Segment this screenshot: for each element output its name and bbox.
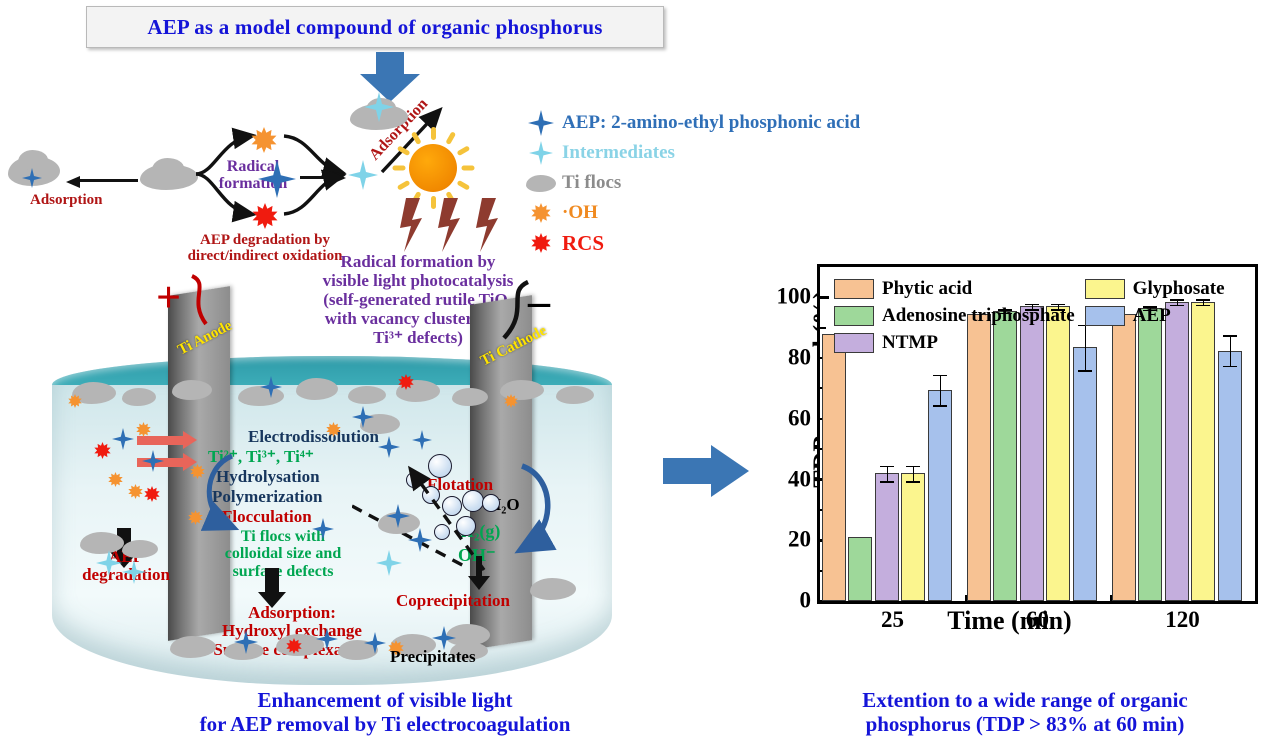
error-cap [906,466,920,468]
chart-legend-item-0: Phytic acid [834,275,1075,302]
x-tick-minor [965,595,967,601]
bar-25-ntmp [875,473,899,601]
bar-120-aep [1218,351,1242,602]
adsorption-left-label: Adsorption [30,192,103,208]
anode-wire-icon [186,274,224,328]
star-icon [520,110,562,136]
error-bar [940,375,941,405]
legend-label-oh: ·OH [562,202,598,224]
y-tick-mark [820,296,829,299]
title-banner: AEP as a model compound of organic phosp… [86,6,664,48]
chart-legend-label-0: Phytic acid [882,278,972,300]
chart-legend-label-2: NTMP [882,332,938,354]
y-tick-label-100: 100 [777,284,812,310]
chart-x-axis-label: Time (min) [757,606,1262,636]
legend-label-aep: AEP: 2-amino-ethyl phosphonic acid [562,112,860,134]
y-tick-label-60: 60 [788,405,811,431]
page-title: AEP as a model compound of organic phosp… [147,15,602,40]
chart-legend-col-1: Phytic acid Adenosine triphosphate NTMP [834,275,1075,356]
chart-legend-swatch-4 [1085,306,1125,326]
chart-legend-label-1: Adenosine triphosphate [882,305,1075,327]
floc-icon [520,175,562,192]
y-tick-minor [820,327,826,329]
precipitates-label: Precipitates [390,648,476,666]
bar-25-glyphosate [901,473,925,601]
bar-25-adenosine-triphosphate [848,537,872,601]
chart-plot-frame: 0204060801002560120 Phytic acid Adenosin… [817,264,1258,604]
chart-legend-item-1: Adenosine triphosphate [834,302,1075,329]
bar-120-phytic-acid [1112,314,1136,601]
y-tick-label-20: 20 [788,527,811,553]
bar-60-phytic-acid [967,314,991,601]
chart-legend-item-3: Glyphosate [1085,275,1225,302]
legend-label-tiflocs: Ti flocs [562,172,621,194]
chart-legend-swatch-0 [834,279,874,299]
x-tick-minor [1110,595,1112,601]
chart-legend: Phytic acid Adenosine triphosphate NTMP … [834,275,1264,356]
bar-60-aep [1073,347,1097,601]
chart-legend-swatch-1 [834,306,874,326]
chart-legend-item-4: AEP [1085,302,1225,329]
y-tick-label-40: 40 [788,466,811,492]
transition-arrow-icon [663,445,749,497]
bar-25-phytic-acid [822,334,846,601]
radical-icon [520,203,562,223]
error-bar [887,466,888,481]
light-bolts-icon [400,198,520,254]
chart-legend-swatch-3 [1085,279,1125,299]
legend-label-rcs: RCS [562,231,604,256]
error-cap [933,405,947,407]
legend-item-intermediates: Intermediates [520,138,940,168]
diagram-legend: AEP: 2-amino-ethyl phosphonic acid Inter… [520,108,940,258]
error-cap [880,466,894,468]
reactor-species [60,400,605,650]
left-caption: Enhancement of visible light for AEP rem… [90,688,680,736]
legend-label-intermediates: Intermediates [562,142,675,164]
error-cap [933,375,947,377]
y-tick-label-80: 80 [788,345,811,371]
legend-item-oh: ·OH [520,198,940,228]
radical-icon [520,233,562,253]
bar-25-aep [928,390,952,601]
chart-legend-item-2: NTMP [834,329,1075,356]
error-bar [913,466,914,481]
error-cap [1078,370,1092,372]
tdp-removal-chart: TDP removal (%) 0204060801002560120 Phyt… [757,254,1262,654]
anode-plus-sign: + [156,276,181,320]
error-cap [1223,366,1237,368]
right-caption: Extention to a wide range of organic pho… [790,688,1260,736]
chart-legend-swatch-2 [834,333,874,353]
chart-legend-label-4: AEP [1133,305,1171,327]
arrow-left-icon [66,176,138,186]
floc-with-aep-left [8,156,60,190]
error-cap [906,481,920,483]
chart-legend-col-2: Glyphosate AEP [1085,275,1225,356]
legend-item-aep: AEP: 2-amino-ethyl phosphonic acid [520,108,940,138]
legend-item-tiflocs: Ti flocs [520,168,940,198]
arrow-right-icon [300,172,348,184]
star-icon [520,141,562,165]
error-cap [880,481,894,483]
cathode-wire-icon [492,280,536,342]
chart-legend-label-3: Glyphosate [1133,278,1225,300]
